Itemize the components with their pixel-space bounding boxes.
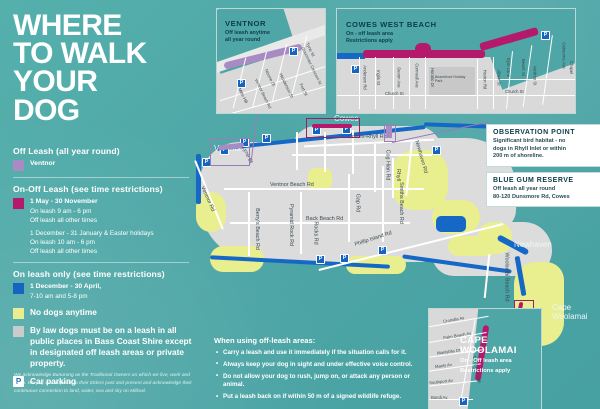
inset-cowes-label-eyre: Eyre Lane [506, 58, 511, 77]
parking-marker-main-9[interactable]: P [432, 146, 441, 155]
legend-detail-dec-apr-1: 7-10 am and 5-8 pm [30, 293, 88, 300]
inset-cowes-label-inglis: Inglis St [376, 70, 381, 85]
inset-cowes-street-v7 [493, 57, 494, 109]
legend-heading-on-leash-only: On leash only (see time restrictions) [13, 269, 209, 279]
inset-ventnor-title: VENTNOR [225, 19, 266, 28]
inset-cowes-sub-1: On - off leash area [346, 31, 393, 37]
inset-cowes-label-church: Church St [505, 89, 524, 94]
off-leash-rules: When using off-leash areas: Carry a leas… [214, 336, 414, 405]
infobox-blue-gum-title: BLUE GUM RESERVE [493, 177, 595, 184]
on-leash-coast-rhyll [436, 216, 466, 232]
swatch-no-dogs-yellow [13, 308, 24, 319]
inset-cowes-label-beach-st: Beach St [521, 59, 526, 76]
inset-cowes-park-label: Beachfront Holiday Park [435, 75, 471, 83]
swatch-off-leash-purple [13, 160, 24, 171]
inset-cowes-on-leash-strip [336, 53, 365, 59]
off-leash-rule-item: Do not allow your dog to rush, jump on, … [214, 373, 414, 391]
parking-marker-main-10[interactable]: P [316, 255, 325, 264]
legend-item-ventnor: Ventnor [13, 159, 209, 171]
infobox-observation-point-line-3: 200 m of shoreline. [493, 153, 595, 161]
legend-label-dec-jan: 1 December - 31 January & Easter holiday… [30, 230, 154, 237]
parking-marker-main-4[interactable]: P [262, 134, 271, 143]
road-label-ventnor-beach-rd: Ventnor Beach Rd [270, 182, 314, 188]
off-leash-rules-list: Carry a leash and use it immediately if … [214, 349, 414, 402]
off-leash-rule-item: Always keep your dog in sight and under … [214, 361, 414, 370]
cape-woolamai-callout: CAPE WOOLAMAI On - Off leash area Restri… [460, 336, 517, 374]
swatch-on-off-leash-magenta [13, 198, 24, 209]
inset-cowes-label-vardrop: Vardrop St [532, 66, 537, 86]
no-dogs-zone-east-spit [448, 236, 498, 256]
legend-heading-off-leash: Off Leash (all year round) [13, 146, 209, 156]
legend-bylaw-text: By law dogs must be on a leash in all pu… [30, 325, 200, 369]
road-label-smiths-beach-rd: Smiths Beach Rd [398, 182, 404, 224]
infobox-observation-point-line-2: dogs in Rhyll Inlet or within [493, 146, 595, 154]
legend-label-no-dogs: No dogs anytime [30, 307, 97, 318]
inset-cowes-label-hoxton: Hoxton Rd [482, 70, 487, 90]
inset-cowes-label-church-st-west: Church St [385, 91, 404, 96]
road-gap-rd [348, 174, 350, 242]
legend-label-may-nov: 1 May - 30 November [30, 198, 98, 205]
poster-root: WHERE TO WALK YOUR DOG Off Leash (all ye… [0, 0, 600, 409]
road-rhyll [392, 158, 394, 198]
off-leash-rules-heading: When using off-leash areas: [214, 336, 414, 345]
legend-detail-may-nov-1: On leash 9 am - 6 pm [30, 208, 91, 215]
off-leash-rule-item: Carry a leash and use it immediately if … [214, 349, 414, 358]
inset-ventnor-sub-2: all year round [225, 37, 260, 43]
inset-cowes-beach-bump [415, 43, 431, 53]
off-leash-rule-item: Put a leash back on if within 50 m of a … [214, 393, 414, 402]
road-label-woolamai-beach-rd: Woolamai Beach Rd [504, 252, 510, 301]
legend-item-bylaw: By law dogs must be on a leash in all pu… [13, 325, 209, 369]
cape-woolamai-sub-2: Restrictions apply [460, 368, 517, 374]
parking-marker-main-7[interactable]: P [378, 246, 387, 255]
acknowledgement-of-country: We acknowledge Bunurong as the Tradition… [14, 372, 198, 396]
inset-cowes-label-anderson: Anderson Rd [363, 65, 368, 89]
inset-cowes-street-v6 [477, 59, 478, 109]
inset-cowes-label-osbourne: Osbourne Ave [562, 42, 567, 68]
legend-label-ventnor: Ventnor [30, 160, 55, 167]
legend-label-dec-apr: 1 December - 30 April, [30, 283, 101, 290]
infobox-observation-point-line-1: Significant bird habitat - no [493, 138, 595, 146]
inset-cowes-title: COWES WEST BEACH [346, 20, 437, 29]
road-label-rocks-rd: Rocks Rd [313, 221, 319, 244]
legend-item-dec-jan: 1 December - 31 January & Easter holiday… [30, 229, 209, 256]
infobox-blue-gum-reserve: BLUE GUM RESERVE Off leash all year roun… [486, 172, 600, 207]
inset-cowes-street-h2 [477, 79, 575, 80]
infobox-observation-point-title: OBSERVATION POINT [493, 129, 595, 136]
infobox-blue-gum-line-1: Off leash all year round [493, 186, 595, 194]
swatch-on-leash-blue [13, 283, 24, 294]
inset-cowes-label-albert: Albert St [497, 69, 502, 85]
infobox-observation-point: OBSERVATION POINT Significant bird habit… [486, 124, 600, 167]
on-leash-coast-west [196, 154, 201, 204]
legend: Off Leash (all year round) Ventnor On-Of… [13, 146, 209, 390]
legend-detail-dec-jan-2: Off leash all other times [30, 248, 97, 255]
inset-cowes-street-v5 [425, 57, 426, 109]
inset-cowes-sub-2: Restrictions apply [346, 38, 393, 44]
legend-item-dec-apr: 1 December - 30 April, 7-10 am and 5-8 p… [13, 282, 209, 301]
inset-cowes-street-v3 [393, 57, 394, 109]
road-cog-hian-rd [374, 144, 376, 192]
town-label-newhaven: Newhaven [514, 240, 552, 249]
road-label-back-beach-rd: Back Beach Rd [306, 216, 343, 222]
inset-ventnor-sub-1: Off leash anytime [225, 30, 270, 36]
road-label-berrys-beach-rd: Berry's Beach Rd [254, 208, 260, 250]
road-label-gap-rd: Gap Rd [354, 194, 360, 213]
title-line-2: TO WALK [13, 40, 213, 68]
legend-divider-1 [13, 177, 189, 178]
page-title: WHERE TO WALK YOUR DOG [13, 12, 213, 125]
road-smiths-beach-rd [382, 166, 384, 242]
inset-cowes-west-beach: Beachfront Holiday Park COWES WEST BEACH… [336, 8, 576, 114]
road-label-cog-hian-rd: Cog Hian Rd [384, 150, 390, 181]
legend-item-no-dogs: No dogs anytime [13, 307, 209, 319]
infobox-blue-gum-line-2: 80-120 Dunsmore Rd, Cowes [493, 194, 595, 202]
inset-cape-label-bondi: Bondi Av [431, 395, 447, 400]
cape-woolamai-sub-1: On - Off leash area [460, 358, 517, 364]
legend-divider-2 [13, 262, 189, 263]
swatch-general-grey [13, 326, 24, 337]
legend-detail-dec-jan-1: On leash 10 am - 6 pm [30, 239, 95, 246]
road-cowes-grid-a [296, 132, 298, 170]
inset-cowes-label-chapel: Chapel [569, 61, 574, 74]
cape-woolamai-title-line-2: WOOLAMAI [460, 346, 517, 356]
legend-heading-on-off-leash: On-Off Leash (see time restrictions) [13, 184, 209, 194]
inset-cape-parking-1[interactable]: P [459, 397, 468, 406]
legend-detail-may-nov-2: Off leash all other times [30, 217, 97, 224]
legend-item-may-nov: 1 May - 30 November On leash 9 am - 6 pm… [13, 197, 209, 225]
inset-ventnor: VENTNOR Off leash anytime all year round… [216, 8, 326, 114]
inset-cowes-street-h1 [337, 95, 575, 96]
off-leash-strip-blue-gum [386, 126, 392, 138]
inset-cowes-label-devon: Devon Ave [397, 67, 402, 87]
inset-ventnor-parking-1[interactable]: P [289, 47, 298, 56]
title-line-3: YOUR [13, 68, 213, 96]
road-berrys-beach-rd [248, 192, 250, 256]
road-cowes-grid-b [324, 132, 326, 172]
highlight-box-cowes-west [306, 118, 360, 138]
road-label-pyramid-rock-rd: Pyramid Rock Rd [288, 204, 294, 246]
inset-cowes-label-horatio: Horatio Dr [430, 68, 435, 87]
inset-cowes-parking-2[interactable]: P [541, 31, 550, 40]
parking-marker-main-8[interactable]: P [340, 254, 349, 263]
title-line-1: WHERE [13, 12, 213, 40]
inset-cowes-street-v4 [409, 57, 410, 109]
highlight-box-ventnor [210, 138, 250, 166]
town-label-cape-woolamai: Cape Woolamai [552, 304, 600, 322]
title-line-4: DOG [13, 97, 213, 125]
road-rocks-rd [300, 192, 302, 254]
on-off-leash-strip-cowes [312, 124, 352, 128]
inset-cowes-label-cornwall: Cornwall Ave [415, 63, 420, 87]
road-cowes-grid-h [292, 154, 432, 156]
inset-cowes-parking-1[interactable]: P [351, 65, 360, 74]
inset-ventnor-parking-2[interactable]: P [237, 79, 246, 88]
road-label-rhyll: Rhyll [395, 169, 401, 181]
road-ventnor-beach-rd [224, 188, 424, 190]
